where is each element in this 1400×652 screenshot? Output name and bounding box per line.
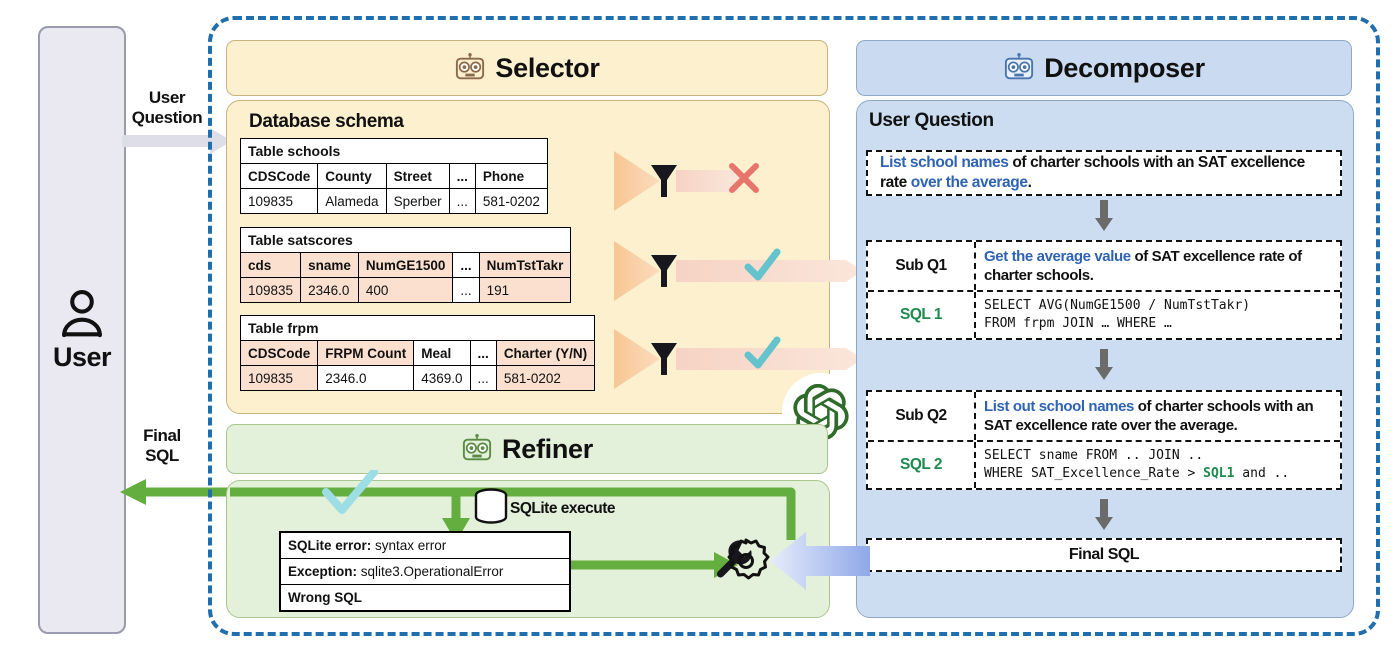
gear-icon[interactable] xyxy=(722,537,770,585)
error-value-sqlite-error: syntax error xyxy=(371,538,446,553)
user-panel-label: User xyxy=(53,342,111,373)
sqlite-execute-label: SQLite execute xyxy=(510,500,615,518)
table-schools-cell-0: 109835 xyxy=(241,189,318,214)
table-satscores-col-1: sname xyxy=(301,253,359,278)
sql-1-label: SQL 1 xyxy=(868,292,976,338)
decomposer-title: Decomposer xyxy=(1044,53,1205,84)
table-schools-header-row: CDSCode County Street ... Phone xyxy=(241,164,548,189)
user-question-box: List school names of charter schools wit… xyxy=(866,150,1342,196)
check-icon xyxy=(742,334,782,374)
user-question-section-title: User Question xyxy=(869,110,994,132)
robot-icon xyxy=(1003,53,1035,83)
error-row-wrong-sql: Wrong SQL xyxy=(281,585,569,610)
uq-highlight-2: over the average xyxy=(911,174,1028,191)
sql-2-row: SQL 2 SELECT sname FROM .. JOIN .. WHERE… xyxy=(868,442,1340,488)
funnel-icon xyxy=(650,340,678,378)
table-frpm-col-4: Charter (Y/N) xyxy=(496,341,594,366)
sql-2-label: SQL 2 xyxy=(868,442,976,488)
table-frpm-cell-0: 109835 xyxy=(241,366,318,391)
table-schools-col-0: CDSCode xyxy=(241,164,318,189)
table-schools-col-2: Street xyxy=(386,164,449,189)
sub-q2-label: Sub Q2 xyxy=(868,392,976,440)
table-schools-cell-2: Sperber xyxy=(386,189,449,214)
error-row-sqlite-error: SQLite error: syntax error xyxy=(281,533,569,559)
sub-q2-text: List out school names of charter schools… xyxy=(976,392,1340,440)
final-sql-box: Final SQL xyxy=(866,538,1342,572)
table-frpm-cell-1: 2346.0 xyxy=(318,366,414,391)
table-frpm-col-1: FRPM Count xyxy=(318,341,414,366)
sql-2-line2-a: WHERE SAT_Excellence_Rate > xyxy=(984,466,1203,481)
refiner-title: Refiner xyxy=(502,434,593,465)
table-frpm-cell-3: ... xyxy=(470,366,496,391)
table-schools-cell-4: 581-0202 xyxy=(475,189,547,214)
table-frpm-col-0: CDSCode xyxy=(241,341,318,366)
table-satscores-col-0: cds xyxy=(241,253,301,278)
table-satscores-name: Table satscores xyxy=(241,228,571,253)
sub-q1-text: Get the average value of SAT excellence … xyxy=(976,242,1340,290)
table-frpm-cell-4: 581-0202 xyxy=(496,366,594,391)
user-question-label: User Question xyxy=(118,88,216,128)
table-satscores-header-row: cds sname NumGE1500 ... NumTstTakr xyxy=(241,253,571,278)
table-frpm-data-row: 109835 2346.0 4369.0 ... 581-0202 xyxy=(241,366,595,391)
user-icon xyxy=(56,288,108,340)
table-frpm-col-3: ... xyxy=(470,341,496,366)
robot-icon xyxy=(461,434,493,464)
sub-q1-highlight: Get the average value xyxy=(984,248,1131,265)
uq-text-2: . xyxy=(1028,174,1032,191)
sub-q2-block: Sub Q2 List out school names of charter … xyxy=(866,390,1342,490)
down-arrow-icon-1 xyxy=(1093,200,1115,232)
sql-1-line1: SELECT AVG(NumGE1500 / NumTstTakr) xyxy=(984,298,1250,313)
table-schools-name: Table schools xyxy=(241,139,548,164)
sql-1-line2: FROM frpm JOIN … WHERE … xyxy=(984,316,1172,331)
funnel-icon xyxy=(650,162,678,200)
table-schools-data-row: 109835 Alameda Sperber ... 581-0202 xyxy=(241,189,548,214)
down-arrow-icon-3 xyxy=(1093,499,1115,531)
table-schools-col-4: Phone xyxy=(475,164,547,189)
funnel-icon xyxy=(650,252,678,290)
table-schools-cell-1: Alameda xyxy=(318,189,386,214)
user-question-label-line2: Question xyxy=(132,108,202,127)
table-schools-col-3: ... xyxy=(449,164,475,189)
filter-row-schools xyxy=(614,148,774,214)
database-schema-title: Database schema xyxy=(249,111,404,133)
final-sql-label-line2: SQL xyxy=(145,446,179,465)
user-question-label-line1: User xyxy=(149,88,185,107)
table-schools-cell-3: ... xyxy=(449,189,475,214)
sql-1-code: SELECT AVG(NumGE1500 / NumTstTakr) FROM … xyxy=(976,292,1340,338)
table-satscores-cell-0: 109835 xyxy=(241,278,301,303)
table-frpm[interactable]: Table frpm CDSCode FRPM Count Meal ... C… xyxy=(240,315,595,391)
cross-icon xyxy=(724,158,764,198)
table-satscores-col-3: ... xyxy=(453,253,479,278)
down-arrow-icon-2 xyxy=(1093,349,1115,381)
error-label-sqlite-error: SQLite error: xyxy=(288,538,371,553)
selector-header: Selector xyxy=(226,40,828,96)
error-row-exception: Exception: sqlite3.OperationalError xyxy=(281,559,569,585)
user-panel: User xyxy=(38,26,126,634)
table-schools-col-1: County xyxy=(318,164,386,189)
error-box: SQLite error: syntax error Exception: sq… xyxy=(279,531,571,612)
error-label-exception: Exception: xyxy=(288,564,357,579)
table-frpm-cell-2: 4369.0 xyxy=(414,366,470,391)
sub-q1-row: Sub Q1 Get the average value of SAT exce… xyxy=(868,242,1340,292)
sql-1-row: SQL 1 SELECT AVG(NumGE1500 / NumTstTakr)… xyxy=(868,292,1340,338)
sql-2-line2-ref: SQL1 xyxy=(1203,466,1234,481)
error-label-wrong-sql: Wrong SQL xyxy=(288,590,362,605)
sql-2-line2-b: and .. xyxy=(1234,466,1289,481)
uq-highlight-1: List school names xyxy=(880,154,1008,171)
table-satscores[interactable]: Table satscores cds sname NumGE1500 ... … xyxy=(240,227,571,303)
check-icon xyxy=(742,246,782,286)
final-sql-label-line1: Final xyxy=(143,426,181,445)
error-value-exception: sqlite3.OperationalError xyxy=(357,564,503,579)
table-satscores-col-4: NumTstTakr xyxy=(479,253,571,278)
sub-q1-label: Sub Q1 xyxy=(868,242,976,290)
table-satscores-cell-3: ... xyxy=(453,278,479,303)
table-satscores-col-2: NumGE1500 xyxy=(358,253,453,278)
robot-icon xyxy=(454,53,486,83)
database-icon xyxy=(474,488,508,524)
filter-row-satscores xyxy=(614,238,864,304)
table-schools[interactable]: Table schools CDSCode County Street ... … xyxy=(240,138,548,214)
sql-2-code: SELECT sname FROM .. JOIN .. WHERE SAT_E… xyxy=(976,442,1340,488)
table-satscores-cell-2: 400 xyxy=(358,278,453,303)
table-frpm-col-2: Meal xyxy=(414,341,470,366)
sql-2-line1: SELECT sname FROM .. JOIN .. xyxy=(984,448,1203,463)
refiner-header: Refiner xyxy=(226,424,828,474)
decomposer-to-refiner-arrow xyxy=(766,528,874,594)
final-sql-label: Final SQL xyxy=(116,426,208,466)
decomposer-header: Decomposer xyxy=(856,40,1352,96)
table-satscores-cell-1: 2346.0 xyxy=(301,278,359,303)
table-satscores-data-row: 109835 2346.0 400 ... 191 xyxy=(241,278,571,303)
sub-q2-highlight: List out school names xyxy=(984,398,1134,415)
sub-q2-row: Sub Q2 List out school names of charter … xyxy=(868,392,1340,442)
final-sql-box-label: Final SQL xyxy=(1069,546,1139,564)
sub-q1-block: Sub Q1 Get the average value of SAT exce… xyxy=(866,240,1342,340)
table-frpm-header-row: CDSCode FRPM Count Meal ... Charter (Y/N… xyxy=(241,341,595,366)
table-satscores-cell-4: 191 xyxy=(479,278,571,303)
table-frpm-name: Table frpm xyxy=(241,316,595,341)
selector-title: Selector xyxy=(495,53,599,84)
